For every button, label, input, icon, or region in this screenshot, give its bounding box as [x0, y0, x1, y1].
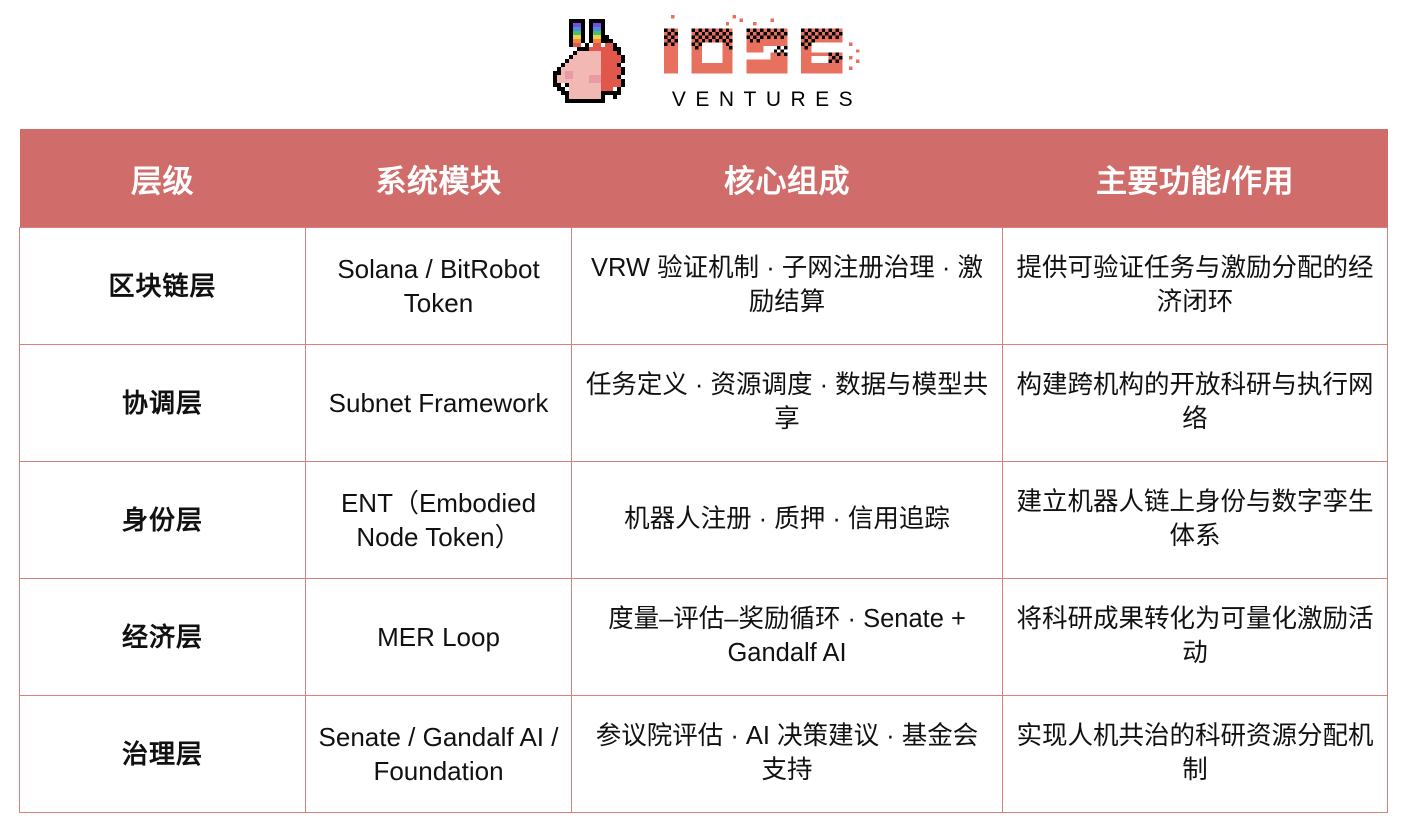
cell-level: 经济层 — [20, 579, 306, 696]
table-header: 层级 系统模块 核心组成 主要功能/作用 — [20, 129, 1388, 228]
cell-module: MER Loop — [306, 579, 572, 696]
cell-module: ENT（Embodied Node Token） — [306, 462, 572, 579]
cell-function: 将科研成果转化为可量化激励活动 — [1003, 579, 1388, 696]
pixel-llama-icon — [541, 11, 645, 115]
wordmark-block: VENTURES — [661, 11, 866, 110]
table-header-row: 层级 系统模块 核心组成 主要功能/作用 — [20, 129, 1388, 228]
cell-function: 建立机器人链上身份与数字孪生体系 — [1003, 462, 1388, 579]
cell-level: 区块链层 — [20, 228, 306, 345]
table-row: 协调层 Subnet Framework 任务定义 · 资源调度 · 数据与模型… — [20, 345, 1388, 462]
architecture-table: 层级 系统模块 核心组成 主要功能/作用 区块链层 Solana / BitRo… — [19, 129, 1388, 813]
column-header-composition: 核心组成 — [572, 129, 1003, 228]
iosg-wordmark-icon — [661, 15, 866, 87]
cell-module: Subnet Framework — [306, 345, 572, 462]
cell-level: 身份层 — [20, 462, 306, 579]
column-header-module: 系统模块 — [306, 129, 572, 228]
cell-function: 实现人机共治的科研资源分配机制 — [1003, 696, 1388, 813]
table-body: 区块链层 Solana / BitRobot Token VRW 验证机制 · … — [20, 228, 1388, 813]
table-row: 区块链层 Solana / BitRobot Token VRW 验证机制 · … — [20, 228, 1388, 345]
cell-level: 治理层 — [20, 696, 306, 813]
cell-module: Solana / BitRobot Token — [306, 228, 572, 345]
cell-composition: 任务定义 · 资源调度 · 数据与模型共享 — [572, 345, 1003, 462]
brand-header: VENTURES — [0, 0, 1406, 129]
cell-function: 提供可验证任务与激励分配的经济闭环 — [1003, 228, 1388, 345]
architecture-table-container: 层级 系统模块 核心组成 主要功能/作用 区块链层 Solana / BitRo… — [0, 129, 1406, 813]
cell-module: Senate / Gandalf AI / Foundation — [306, 696, 572, 813]
table-row: 经济层 MER Loop 度量–评估–奖励循环 · Senate + Ganda… — [20, 579, 1388, 696]
cell-function: 构建跨机构的开放科研与执行网络 — [1003, 345, 1388, 462]
cell-composition: 参议院评估 · AI 决策建议 · 基金会支持 — [572, 696, 1003, 813]
table-row: 治理层 Senate / Gandalf AI / Foundation 参议院… — [20, 696, 1388, 813]
logo-lockup: VENTURES — [541, 11, 866, 115]
table-row: 身份层 ENT（Embodied Node Token） 机器人注册 · 质押 … — [20, 462, 1388, 579]
cell-level: 协调层 — [20, 345, 306, 462]
column-header-level: 层级 — [20, 129, 306, 228]
column-header-function: 主要功能/作用 — [1003, 129, 1388, 228]
cell-composition: VRW 验证机制 · 子网注册治理 · 激励结算 — [572, 228, 1003, 345]
brand-tagline: VENTURES — [664, 89, 862, 110]
cell-composition: 度量–评估–奖励循环 · Senate + Gandalf AI — [572, 579, 1003, 696]
cell-composition: 机器人注册 · 质押 · 信用追踪 — [572, 462, 1003, 579]
